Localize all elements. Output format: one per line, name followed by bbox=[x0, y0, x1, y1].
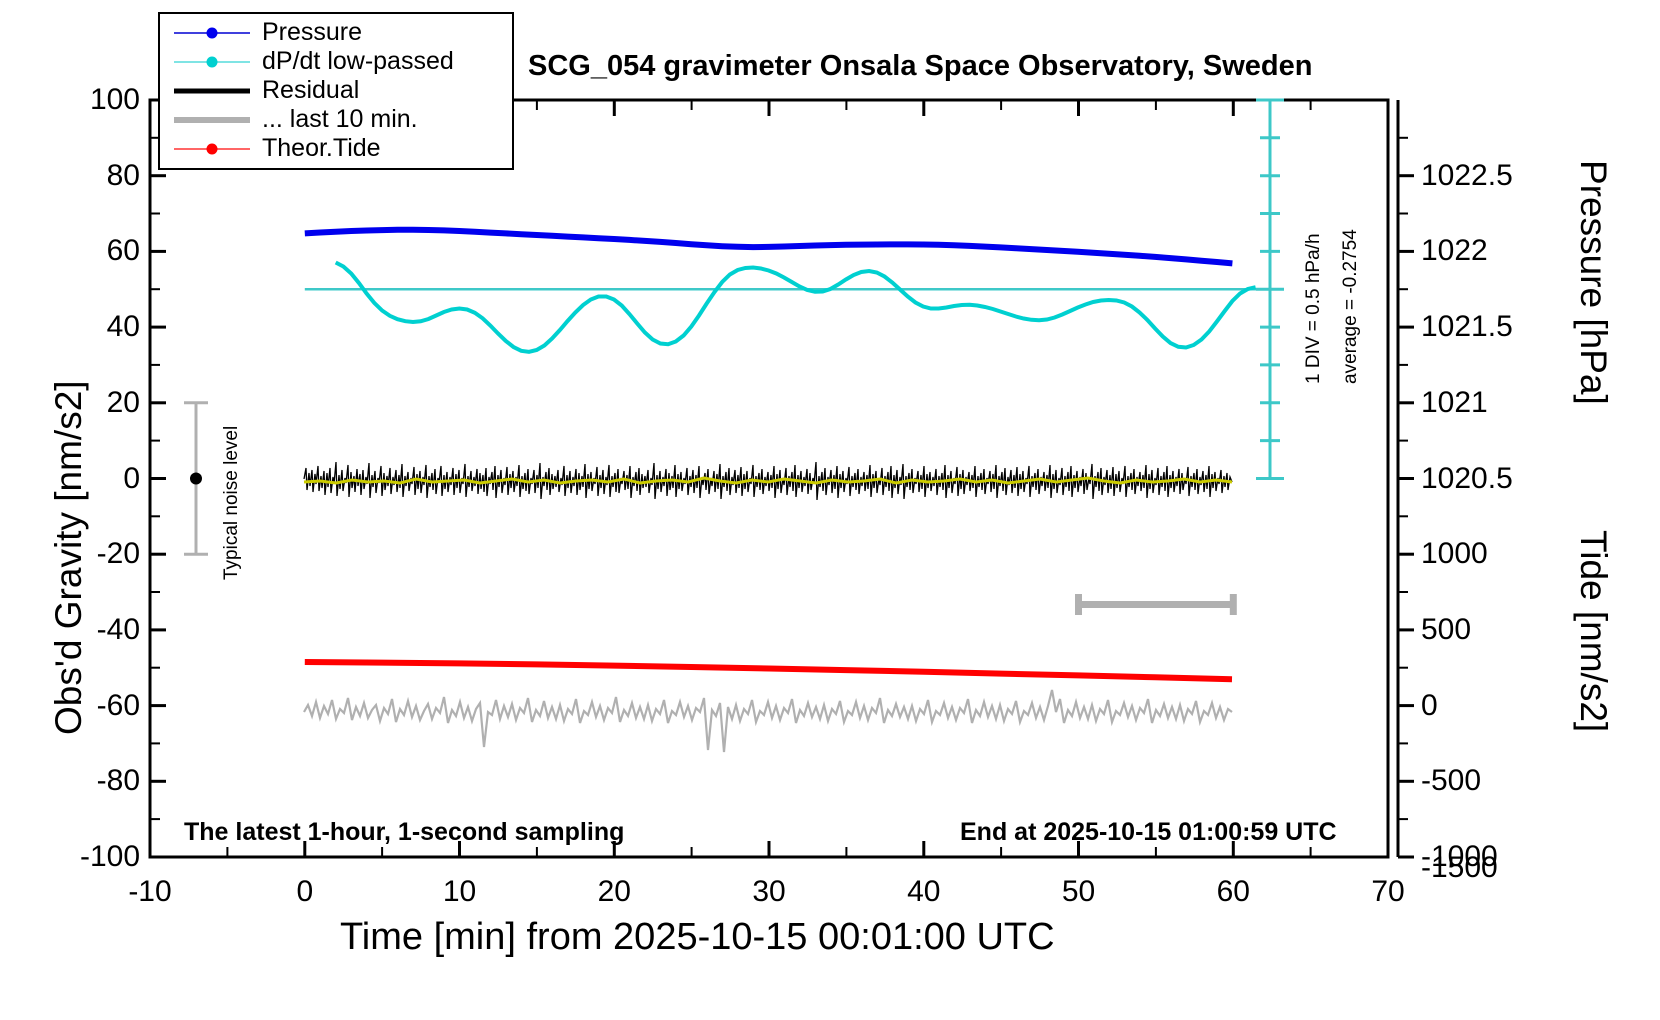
legend-label-last10min: ... last 10 min. bbox=[262, 105, 418, 134]
legend-item-pressure[interactable]: Pressure bbox=[160, 18, 512, 47]
series-dpdt-lowpassed bbox=[336, 263, 1256, 352]
legend-label-dpdt: dP/dt low-passed bbox=[262, 47, 454, 76]
legend-swatch-residual-icon bbox=[174, 81, 250, 101]
x-axis-title: Time [min] from 2025-10-15 00:01:00 UTC bbox=[340, 916, 1055, 959]
y-tick-left-m80: -80 bbox=[40, 764, 140, 798]
y-tick-tide-m500: -500 bbox=[1421, 764, 1481, 798]
legend-label-theor-tide: Theor.Tide bbox=[262, 134, 381, 163]
y-tick-tide-0: 0 bbox=[1421, 689, 1438, 723]
y-axis-title-pressure: Pressure [hPa] bbox=[1572, 160, 1614, 405]
y-tick-left-80: 80 bbox=[40, 159, 140, 193]
series-pressure bbox=[305, 230, 1233, 264]
series-last-10-min bbox=[304, 690, 1232, 752]
y-tick-tide-m1500: -1500 bbox=[1421, 851, 1498, 885]
y-tick-pressure-1021-0: 1021 bbox=[1421, 386, 1488, 420]
annotation-typical-noise-level: Typical noise level bbox=[221, 426, 243, 580]
annotation-average: average = -0.2754 bbox=[1340, 229, 1362, 384]
y-tick-pressure-1022-5: 1022.5 bbox=[1421, 159, 1513, 193]
legend-swatch-pressure-icon bbox=[174, 23, 250, 43]
footer-note-left: The latest 1-hour, 1-second sampling bbox=[184, 818, 624, 847]
y-tick-left-100: 100 bbox=[40, 83, 140, 117]
legend-item-residual[interactable]: Residual bbox=[160, 76, 512, 105]
chart-page: SCG_054 gravimeter Onsala Space Observat… bbox=[0, 0, 1660, 1020]
y-axis-title-tide: Tide [nm/s2] bbox=[1572, 530, 1614, 732]
legend-label-residual: Residual bbox=[262, 76, 359, 105]
typical-noise-centre-dot bbox=[190, 473, 202, 485]
x-tick-20: 20 bbox=[598, 875, 631, 909]
legend-swatch-last10min-icon bbox=[174, 110, 250, 130]
y-tick-tide-1000: 1000 bbox=[1421, 537, 1488, 571]
legend-label-pressure: Pressure bbox=[262, 18, 362, 47]
x-tick-m10: -10 bbox=[128, 875, 171, 909]
footer-note-right: End at 2025-10-15 01:00:59 UTC bbox=[960, 818, 1337, 847]
x-tick-40: 40 bbox=[907, 875, 940, 909]
x-tick-70: 70 bbox=[1371, 875, 1404, 909]
annotation-div-scale: 1 DIV = 0.5 hPa/h bbox=[1303, 233, 1325, 384]
y-tick-pressure-1021-5: 1021.5 bbox=[1421, 310, 1513, 344]
x-axis-title-text: Time [min] from 2025-10-15 00:01:00 UTC bbox=[340, 916, 1055, 958]
x-tick-50: 50 bbox=[1062, 875, 1095, 909]
y-tick-left-m100: -100 bbox=[40, 840, 140, 874]
y-axis-title-tide-text: Tide [nm/s2] bbox=[1573, 530, 1614, 732]
y-tick-pressure-1022-0: 1022 bbox=[1421, 234, 1488, 268]
legend: Pressure dP/dt low-passed Residual ... l… bbox=[158, 12, 514, 170]
right-outer-axis bbox=[1398, 100, 1414, 857]
y-tick-pressure-1020-5: 1020.5 bbox=[1421, 462, 1513, 496]
y-axis-title-pressure-text: Pressure [hPa] bbox=[1573, 160, 1614, 405]
y-tick-left-40: 40 bbox=[40, 310, 140, 344]
y-axis-title-left: Obs'd Gravity [nm/s2] bbox=[48, 380, 90, 735]
last10min-span-bar bbox=[1079, 594, 1234, 615]
x-tick-0: 0 bbox=[296, 875, 313, 909]
legend-item-theor-tide[interactable]: Theor.Tide bbox=[160, 134, 512, 163]
series-theor-tide bbox=[305, 662, 1232, 679]
legend-swatch-theor-tide-icon bbox=[174, 139, 250, 159]
dpdt-scale-bar bbox=[1256, 100, 1284, 479]
legend-swatch-dpdt-icon bbox=[174, 52, 250, 72]
x-tick-30: 30 bbox=[752, 875, 785, 909]
y-axis-title-left-text: Obs'd Gravity [nm/s2] bbox=[48, 380, 89, 735]
y-tick-left-60: 60 bbox=[40, 234, 140, 268]
x-tick-60: 60 bbox=[1217, 875, 1250, 909]
legend-item-dpdt[interactable]: dP/dt low-passed bbox=[160, 47, 512, 76]
y-tick-tide-500: 500 bbox=[1421, 613, 1471, 647]
x-tick-10: 10 bbox=[443, 875, 476, 909]
legend-item-last10min[interactable]: ... last 10 min. bbox=[160, 105, 512, 134]
